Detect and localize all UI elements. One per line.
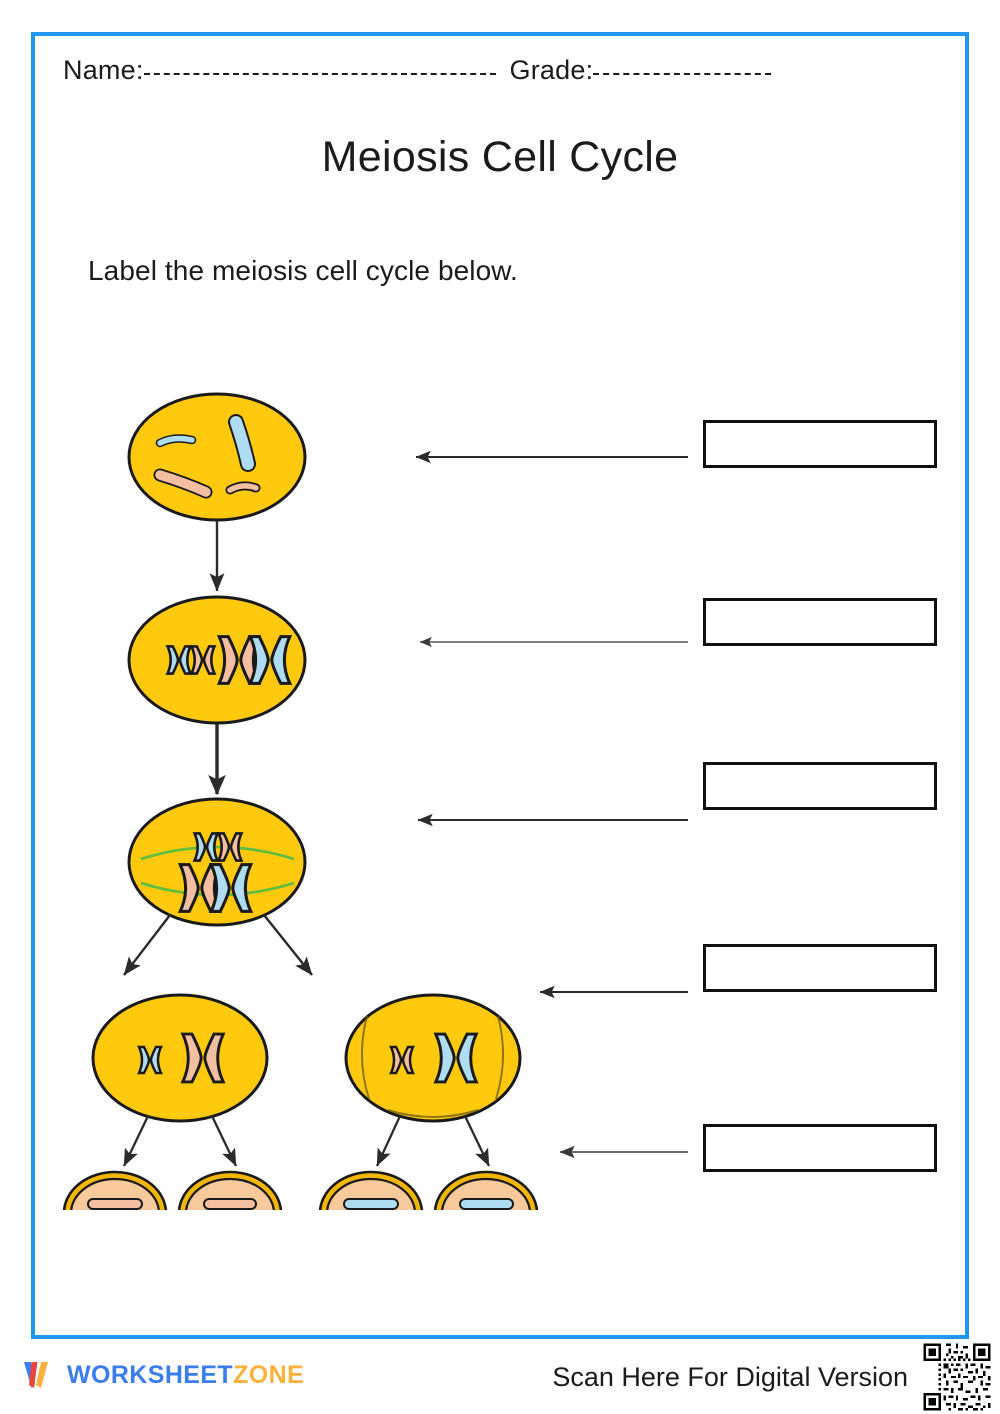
- grade-label: Grade:: [510, 55, 594, 86]
- flow-arrow-3-4-left: [124, 915, 170, 975]
- grade-input-line[interactable]: [593, 73, 771, 75]
- answer-box-2[interactable]: [703, 598, 937, 646]
- gamete-cell-1: [64, 1172, 166, 1210]
- name-label: Name:: [63, 55, 144, 86]
- page-title: Meiosis Cell Cycle: [0, 133, 1000, 182]
- daughter-cell-left: [93, 995, 267, 1121]
- flow-arrow-4-gamete-1: [124, 1116, 148, 1166]
- qr-code[interactable]: [921, 1341, 993, 1413]
- daughter-cell-right: [346, 995, 520, 1121]
- page-footer: WORKSHEETZONE Scan Here For Digital Vers…: [0, 1352, 1000, 1414]
- worksheetzone-logo[interactable]: WORKSHEETZONE: [22, 1358, 304, 1392]
- gamete-cell-3: [320, 1172, 422, 1210]
- brand-primary-text: WORKSHEET: [67, 1361, 233, 1389]
- name-input-line[interactable]: [144, 73, 496, 75]
- answer-box-4[interactable]: [703, 944, 937, 992]
- flow-arrow-4-gamete-4: [465, 1116, 489, 1166]
- brand-secondary-text: ZONE: [233, 1361, 304, 1389]
- metaphase-i-cell: [129, 799, 305, 925]
- w-logo-icon: [22, 1358, 56, 1392]
- flow-arrow-4-gamete-2: [212, 1116, 236, 1166]
- student-info-row: Name: Grade:: [63, 55, 933, 95]
- answer-box-3[interactable]: [703, 762, 937, 810]
- gamete-cell-4: [435, 1172, 537, 1210]
- scan-instruction-text: Scan Here For Digital Version: [552, 1362, 908, 1393]
- gamete-cell-2: [179, 1172, 281, 1210]
- answer-box-5[interactable]: [703, 1124, 937, 1172]
- flow-arrow-3-4-right: [264, 915, 312, 975]
- answer-box-1[interactable]: [703, 420, 937, 468]
- flow-arrow-4-gamete-3: [377, 1116, 400, 1166]
- interphase-cell: [129, 394, 305, 520]
- prophase-i-cell: [129, 597, 305, 723]
- instruction-text: Label the meiosis cell cycle below.: [88, 255, 518, 287]
